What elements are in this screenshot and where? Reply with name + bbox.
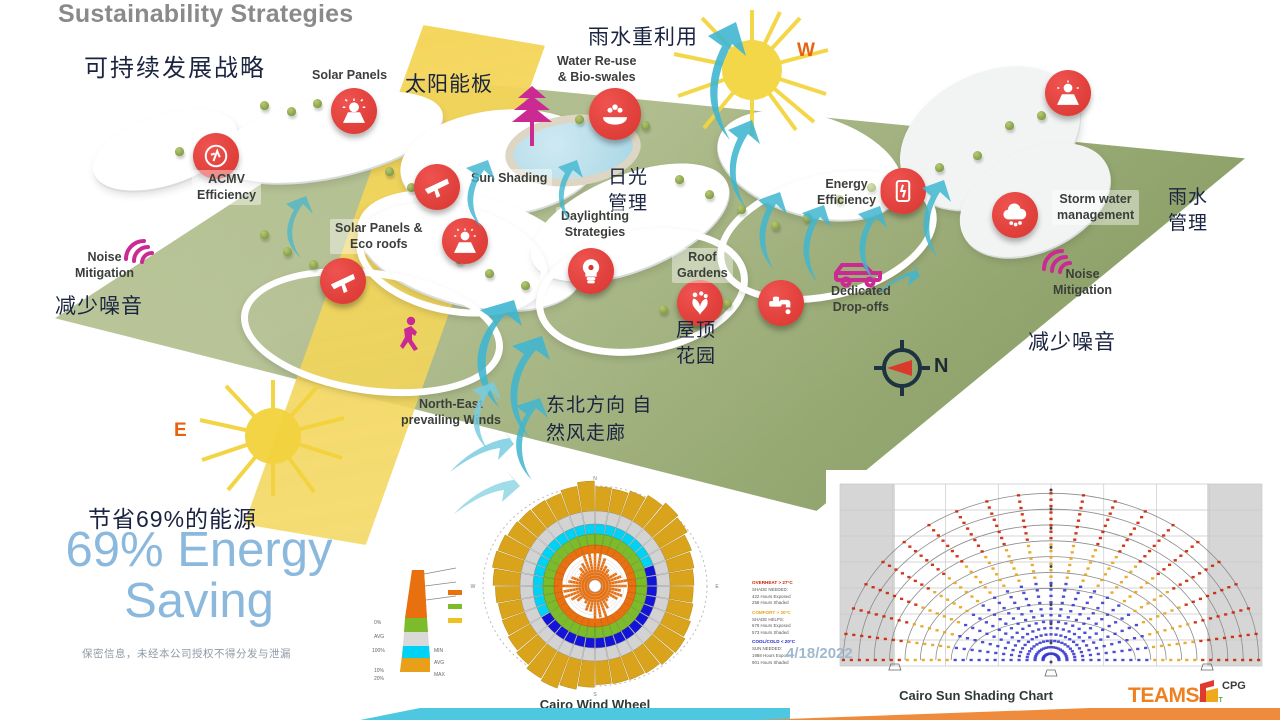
- bottom-decorative-band: [0, 704, 1280, 720]
- legend-comfort-l2: 573 Hours Shaded: [752, 630, 795, 637]
- legend-comfort-l0: SHADE HELPS:: [752, 617, 795, 624]
- svg-text:W: W: [471, 584, 476, 590]
- cairo-sun-shading-title: Cairo Sun Shading Chart: [826, 688, 1126, 703]
- label-storm-water-chinese: 雨水 管理: [1168, 185, 1208, 236]
- water-reuse-icon[interactable]: [589, 88, 641, 140]
- wind-arrow-icon: [556, 160, 586, 224]
- svg-text:0%: 0%: [374, 620, 382, 626]
- sun-shading-icon[interactable]: [414, 164, 460, 210]
- cairo-sun-shading-chart: [826, 470, 1276, 685]
- wind-arrow-icon: [876, 258, 920, 298]
- svg-text:AVG: AVG: [374, 634, 384, 640]
- solar-panel-icon-right[interactable]: [1045, 70, 1091, 116]
- svg-text:MIN: MIN: [434, 648, 444, 654]
- daylighting-strategies-icon[interactable]: [568, 248, 614, 294]
- svg-text:10%: 10%: [374, 668, 385, 674]
- noise-waves-right-icon: [1038, 235, 1080, 275]
- wind-arrow-icon: [800, 205, 836, 285]
- slide-canvas: Sustainability Strategies 可持续发展战略: [0, 0, 1280, 720]
- cpg-logo-text: CPG: [1222, 680, 1246, 692]
- legend-cool-label: COOL/COLD < 20°C: [752, 639, 795, 644]
- label-roof-gardens: Roof Gardens: [672, 248, 733, 283]
- svg-text:E: E: [715, 584, 719, 590]
- svg-text:20%: 20%: [374, 676, 385, 680]
- label-noise-mitigation-right-chinese: 减少噪音: [1028, 330, 1116, 356]
- label-storm-water-management: Storm water management: [1052, 190, 1139, 225]
- direction-marker-east: E: [174, 420, 187, 442]
- tree-pictogram-icon: [508, 82, 556, 148]
- legend-overheat-l1: 422 Hours Exposed: [752, 594, 795, 601]
- sun-burst-east-icon: [198, 378, 348, 498]
- legend-overheat-l2: 258 Hours Shaded: [752, 600, 795, 607]
- label-water-reuse-chinese: 雨水重利用: [588, 25, 698, 51]
- cpg-logo-mark: [1196, 678, 1220, 704]
- label-acmv-efficiency: ACMV Efficiency: [192, 170, 261, 205]
- legend-overheat-l0: SHADE NEEDED:: [752, 587, 795, 594]
- compass-rose-icon: [872, 338, 932, 398]
- svg-text:MAX: MAX: [434, 672, 446, 678]
- wind-arrow-icon: [756, 192, 792, 272]
- date-stamp: 4/18/2022: [786, 645, 853, 662]
- label-roof-gardens-chinese: 屋顶 花园: [676, 318, 716, 369]
- eco-roof-panel-icon[interactable]: [320, 258, 366, 304]
- legend-comfort-label: COMFORT > 20°C: [752, 610, 791, 615]
- solar-panel-icon[interactable]: [331, 88, 377, 134]
- label-solar-panels-chinese: 太阳能板: [405, 72, 493, 98]
- direction-marker-west: W: [797, 40, 815, 62]
- page-title: Sustainability Strategies: [58, 0, 353, 29]
- wind-arrow-icon: [464, 160, 500, 230]
- svg-text:AVG: AVG: [434, 660, 444, 666]
- svg-text:N: N: [593, 476, 597, 482]
- compass-north-label: N: [934, 355, 948, 378]
- confidentiality-notice: 保密信息，未经本公司授权不得分发与泄漏: [82, 646, 291, 661]
- storm-water-management-icon[interactable]: [992, 192, 1038, 238]
- legend-comfort-l1: 678 Hours Exposed: [752, 623, 795, 630]
- noise-waves-left-icon: [120, 225, 162, 265]
- cairo-wind-wheel-chart: NESW: [430, 468, 760, 718]
- legend-overheat-label: OVERHEAT > 27°C: [752, 580, 793, 585]
- label-noise-mitigation-left-chinese: 减少噪音: [55, 294, 143, 320]
- energy-saving-english: 69% Energy Saving: [34, 525, 364, 628]
- wind-arrow-icon: [920, 180, 956, 260]
- label-solar-panels: Solar Panels: [307, 66, 392, 86]
- label-prevailing-winds-chinese: 东北方向 自 然风走廊: [546, 392, 652, 447]
- water-tap-icon[interactable]: [758, 280, 804, 326]
- wind-wheel-key: 0%AVG100% 10%20% MINAVGMAX: [372, 560, 464, 680]
- label-water-reuse: Water Re-use & Bio-swales: [552, 52, 641, 87]
- label-solar-eco-roofs: Solar Panels & Eco roofs: [330, 219, 428, 254]
- wind-arrow-icon: [284, 196, 318, 260]
- pedestrian-pictogram-icon: [398, 316, 424, 352]
- svg-text:100%: 100%: [372, 648, 385, 654]
